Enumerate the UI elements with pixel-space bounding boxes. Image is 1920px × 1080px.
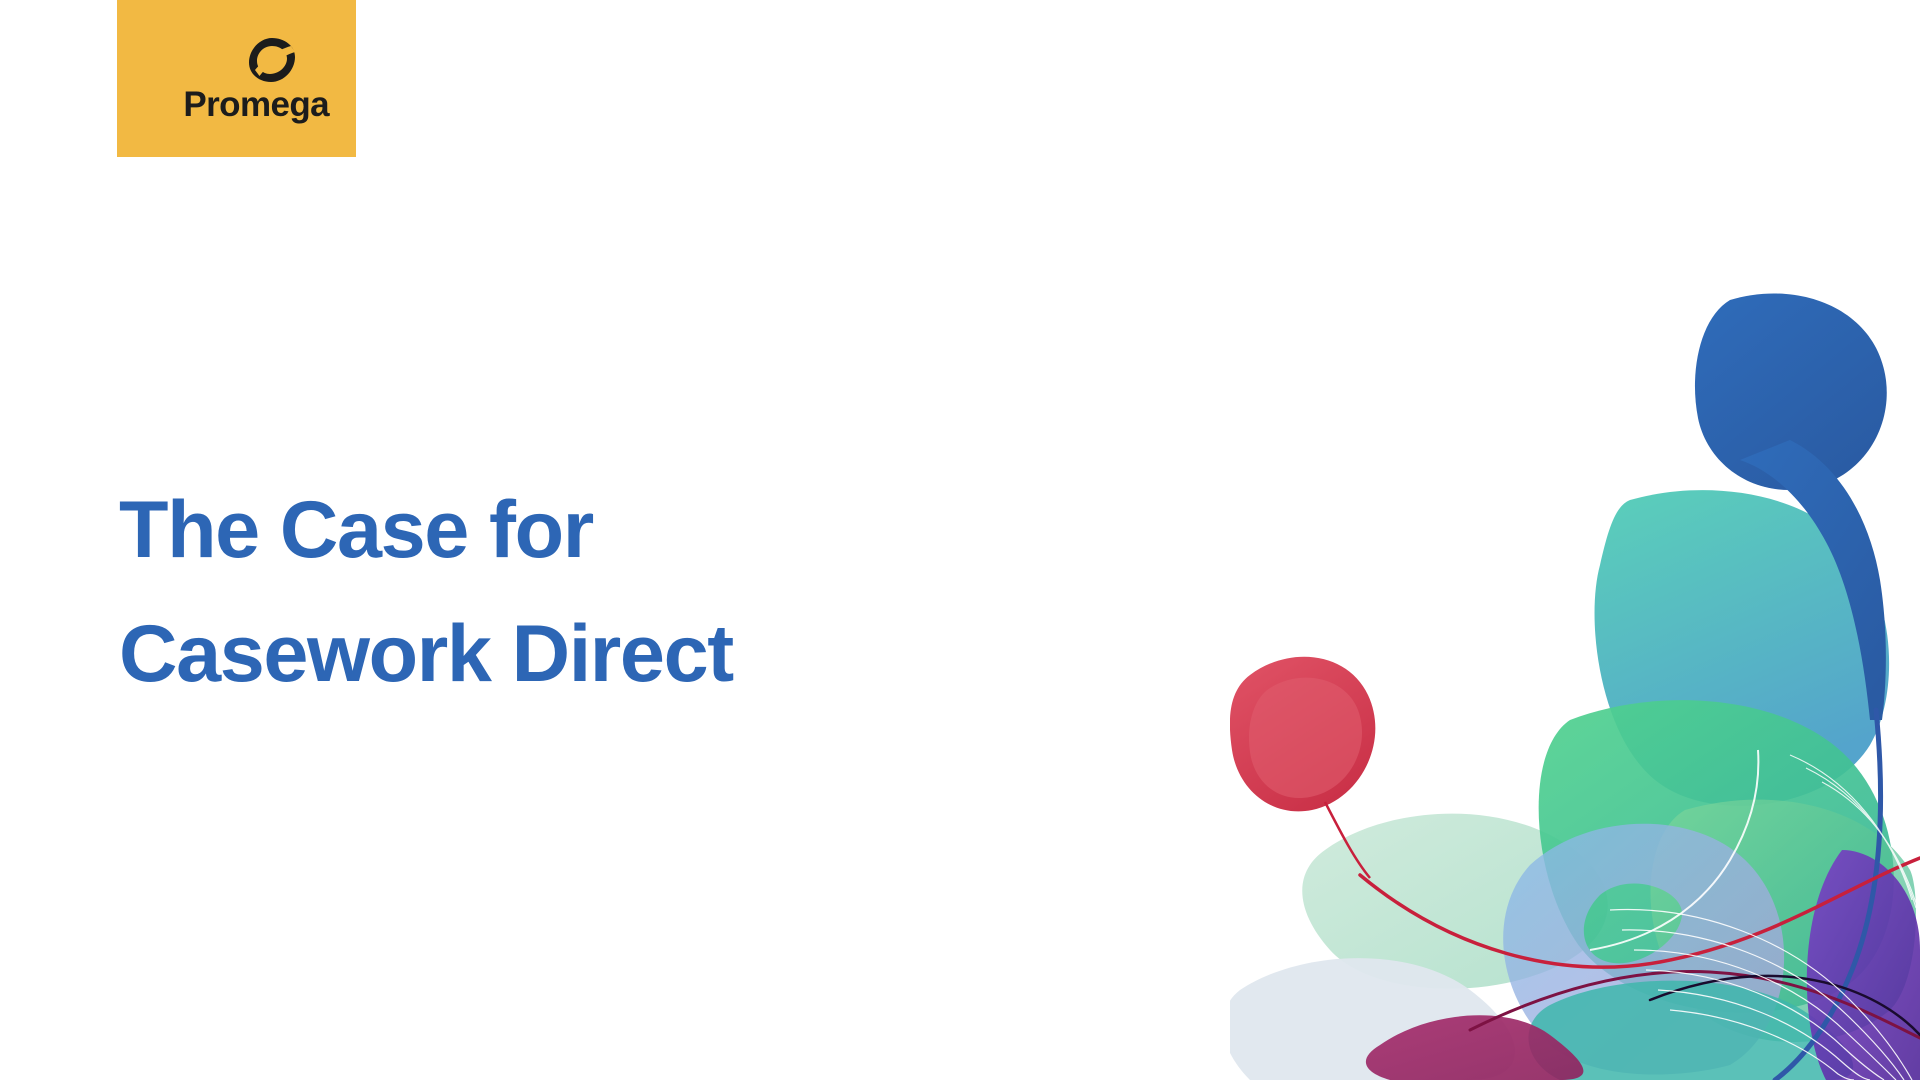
shape-teal-upper — [1595, 490, 1890, 806]
page-title-line-1: The Case for — [119, 468, 1019, 592]
artwork-shapes — [1230, 293, 1920, 1080]
shape-green-mid — [1539, 700, 1894, 1012]
curve-white-swoosh — [1590, 750, 1758, 950]
shape-mint-blob — [1302, 814, 1608, 989]
promega-logo-block: Promega — [117, 0, 356, 157]
shape-green-light — [1651, 800, 1916, 1042]
shape-magenta-blob — [1366, 1015, 1584, 1080]
shape-red-teardrop — [1230, 657, 1375, 878]
title-slide: Promega The Case for Casework Direct — [0, 0, 1920, 1080]
white-arc-lines-upper — [1790, 755, 1920, 916]
curve-red — [1360, 858, 1920, 967]
shape-pale-blue-blob — [1230, 958, 1515, 1080]
decorative-artwork — [1230, 290, 1920, 1080]
shape-purple-strip — [1807, 850, 1920, 1080]
shape-teal-lower — [1528, 981, 1853, 1080]
shape-sky-loop — [1503, 824, 1784, 1075]
curve-navy — [1650, 976, 1920, 1035]
curve-magenta — [1470, 972, 1920, 1038]
shape-blue-teardrop — [1695, 293, 1887, 1080]
page-title-line-2: Casework Direct — [119, 592, 1019, 716]
promega-ring-icon — [247, 35, 297, 85]
promega-wordmark: Promega — [183, 87, 329, 122]
page-title: The Case for Casework Direct — [119, 468, 1019, 716]
white-arc-lines — [1610, 910, 1912, 1080]
